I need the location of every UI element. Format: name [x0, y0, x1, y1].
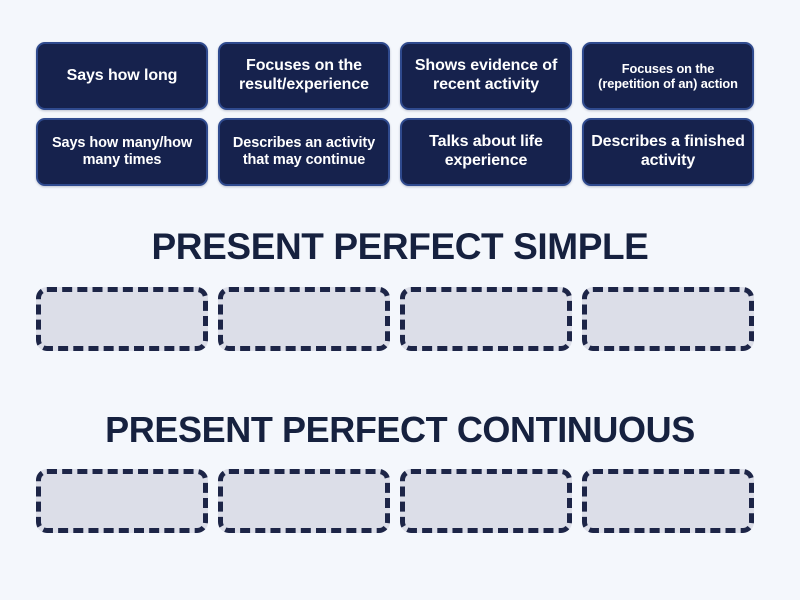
dropzone[interactable]: [400, 469, 572, 533]
draggable-tile[interactable]: Says how long: [36, 42, 208, 110]
dropzone-row: [0, 287, 800, 351]
tile-label: Shows evidence of recent activity: [409, 57, 563, 94]
dropzone[interactable]: [36, 287, 208, 351]
category-group: PRESENT PERFECT SIMPLE: [0, 228, 800, 351]
dropzone-row: [0, 469, 800, 533]
draggable-tile[interactable]: Describes a finished activity: [582, 118, 754, 186]
dropzone[interactable]: [582, 287, 754, 351]
draggable-tile[interactable]: Shows evidence of recent activity: [400, 42, 572, 110]
dropzone[interactable]: [582, 469, 754, 533]
dropzone[interactable]: [36, 469, 208, 533]
tile-label: Focuses on the (repetition of an) action: [591, 61, 745, 92]
dropzone[interactable]: [218, 469, 390, 533]
draggable-tile[interactable]: Says how many/how many times: [36, 118, 208, 186]
category-title: PRESENT PERFECT CONTINUOUS: [0, 411, 800, 449]
tile-label: Describes a finished activity: [591, 133, 745, 170]
draggable-tile[interactable]: Describes an activity that may continue: [218, 118, 390, 186]
category-group: PRESENT PERFECT CONTINUOUS: [0, 411, 800, 533]
draggable-tile-tray: Says how long Focuses on the result/expe…: [36, 42, 766, 186]
tile-label: Talks about life experience: [409, 133, 563, 170]
tile-label: Says how many/how many times: [45, 135, 199, 168]
draggable-tile[interactable]: Focuses on the result/experience: [218, 42, 390, 110]
draggable-tile[interactable]: Focuses on the (repetition of an) action: [582, 42, 754, 110]
tile-label: Says how long: [67, 67, 178, 86]
dropzone[interactable]: [400, 287, 572, 351]
tile-label: Describes an activity that may continue: [227, 135, 381, 168]
tile-label: Focuses on the result/experience: [227, 57, 381, 94]
activity-stage: Says how long Focuses on the result/expe…: [0, 0, 800, 600]
category-title: PRESENT PERFECT SIMPLE: [0, 228, 800, 267]
dropzone[interactable]: [218, 287, 390, 351]
draggable-tile[interactable]: Talks about life experience: [400, 118, 572, 186]
